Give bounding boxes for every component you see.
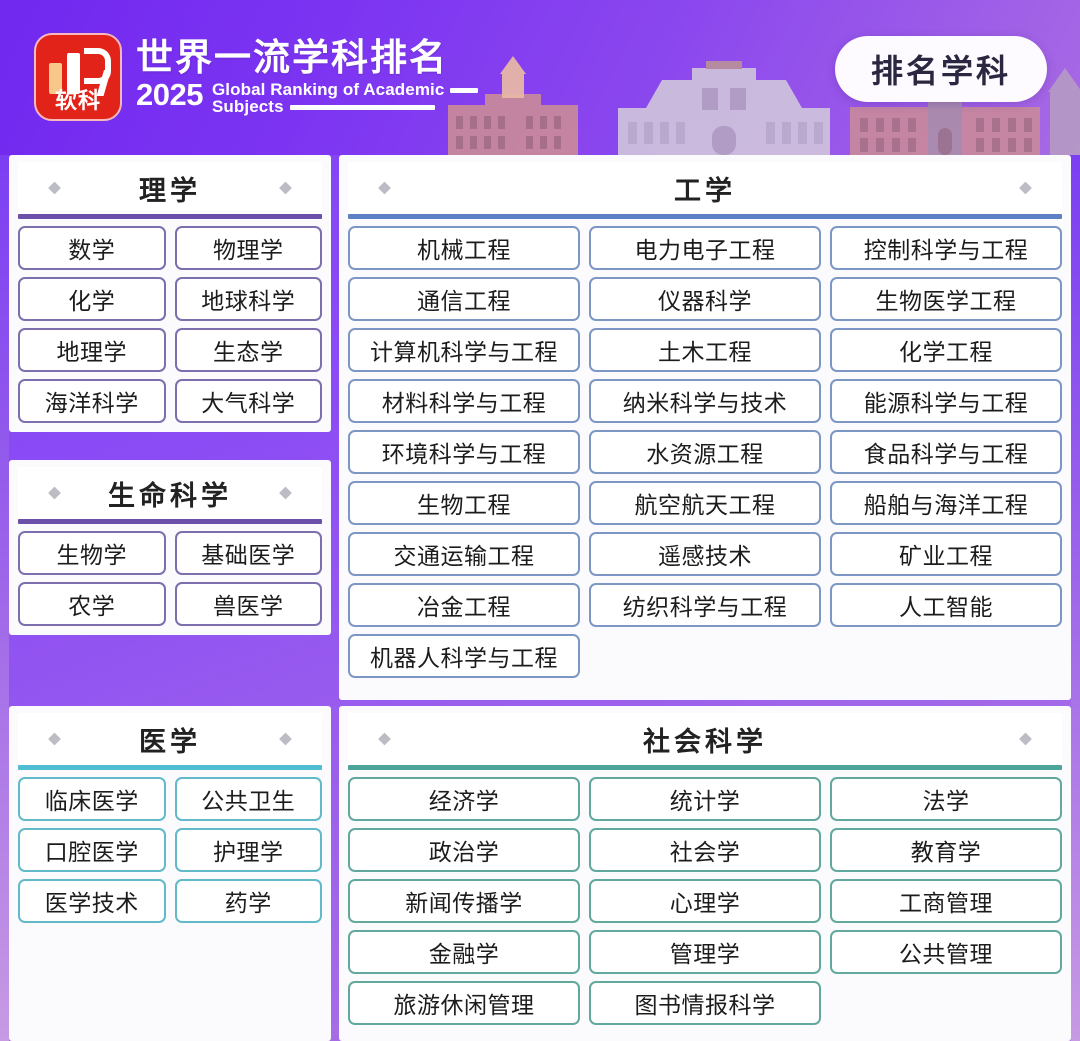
right-edge-strip (1071, 155, 1080, 1041)
subject-tile[interactable]: 航空航天工程 (589, 481, 821, 525)
subject-tile[interactable]: 口腔医学 (18, 828, 166, 872)
section-medicine-header: 医学 (18, 713, 322, 765)
brand-logo: 软科 世界一流学科排名 2025 Global Ranking of Acade… (34, 33, 478, 121)
subject-tile[interactable]: 食品科学与工程 (830, 430, 1062, 474)
section-engineering-tiles: 机械工程 电力电子工程 控制科学与工程 通信工程 仪器科学 生物医学工程 计算机… (348, 226, 1062, 678)
subject-tile[interactable]: 仪器科学 (589, 277, 821, 321)
subject-tile[interactable]: 计算机科学与工程 (348, 328, 580, 372)
section-science-header: 理学 (18, 162, 322, 214)
subject-tile[interactable]: 金融学 (348, 930, 580, 974)
diamond-bullet-icon (279, 487, 292, 500)
diamond-bullet-icon (1019, 182, 1032, 195)
subject-tile[interactable]: 水资源工程 (589, 430, 821, 474)
diamond-bullet-icon (48, 733, 61, 746)
section-engineering-header: 工学 (348, 162, 1062, 214)
subject-tile[interactable]: 化学 (18, 277, 166, 321)
logo-cn-text: 软科 (36, 90, 120, 112)
header-banner: 软科 世界一流学科排名 2025 Global Ranking of Acade… (0, 0, 1080, 155)
subject-tile[interactable]: 药学 (175, 879, 323, 923)
subject-tile[interactable]: 工商管理 (830, 879, 1062, 923)
section-medicine-title: 医学 (139, 720, 201, 759)
ranking-subjects-badge-label: 排名学科 (871, 46, 1011, 92)
section-social-science: 社会科学 经济学 统计学 法学 政治学 社会学 教育学 新闻传播学 心理学 工商… (339, 706, 1071, 1041)
subject-tile[interactable]: 图书情报科学 (589, 981, 821, 1025)
subject-tile[interactable]: 大气科学 (175, 379, 323, 423)
section-life-science-rule (18, 519, 322, 524)
diamond-bullet-icon (279, 182, 292, 195)
subject-tile[interactable]: 机器人科学与工程 (348, 634, 580, 678)
section-life-science-header: 生命科学 (18, 467, 322, 519)
subject-tile[interactable]: 兽医学 (175, 582, 323, 626)
subject-tile[interactable]: 物理学 (175, 226, 323, 270)
subject-tile[interactable]: 冶金工程 (348, 583, 580, 627)
subject-tile[interactable]: 数学 (18, 226, 166, 270)
subject-tile[interactable]: 能源科学与工程 (830, 379, 1062, 423)
subject-tile[interactable]: 生物学 (18, 531, 166, 575)
section-life-science: 生命科学 生物学 基础医学 农学 兽医学 (9, 460, 331, 635)
subject-tile[interactable]: 旅游休闲管理 (348, 981, 580, 1025)
subject-tile[interactable]: 经济学 (348, 777, 580, 821)
subject-tile[interactable]: 基础医学 (175, 531, 323, 575)
banner-year: 2025 (136, 79, 203, 110)
subject-tile[interactable]: 统计学 (589, 777, 821, 821)
section-medicine: 医学 临床医学 公共卫生 口腔医学 护理学 医学技术 药学 (9, 706, 331, 1041)
section-life-science-tiles: 生物学 基础医学 农学 兽医学 (18, 531, 322, 626)
left-edge-strip (0, 155, 9, 1041)
subject-tile[interactable]: 生态学 (175, 328, 323, 372)
section-science-tiles: 数学 物理学 化学 地球科学 地理学 生态学 海洋科学 大气科学 (18, 226, 322, 423)
diamond-bullet-icon (378, 733, 391, 746)
subject-tile[interactable]: 矿业工程 (830, 532, 1062, 576)
subject-tile[interactable]: 纺织科学与工程 (589, 583, 821, 627)
subject-tile[interactable]: 心理学 (589, 879, 821, 923)
diamond-bullet-icon (48, 487, 61, 500)
section-social-science-rule (348, 765, 1062, 770)
subject-tile[interactable]: 海洋科学 (18, 379, 166, 423)
subject-tile[interactable]: 机械工程 (348, 226, 580, 270)
section-social-science-header: 社会科学 (348, 713, 1062, 765)
subject-tile[interactable]: 临床医学 (18, 777, 166, 821)
diamond-bullet-icon (48, 182, 61, 195)
section-science-rule (18, 214, 322, 219)
subject-tile[interactable]: 遥感技术 (589, 532, 821, 576)
subject-tile[interactable]: 纳米科学与技术 (589, 379, 821, 423)
diamond-bullet-icon (378, 182, 391, 195)
subject-tile[interactable]: 人工智能 (830, 583, 1062, 627)
section-medicine-tiles: 临床医学 公共卫生 口腔医学 护理学 医学技术 药学 (18, 777, 322, 923)
section-social-science-title: 社会科学 (643, 720, 767, 759)
title-rule-b-icon (290, 105, 435, 110)
subject-tile[interactable]: 医学技术 (18, 879, 166, 923)
subject-tile[interactable]: 农学 (18, 582, 166, 626)
section-medicine-rule (18, 765, 322, 770)
subject-tile[interactable]: 新闻传播学 (348, 879, 580, 923)
subject-tile[interactable]: 生物医学工程 (830, 277, 1062, 321)
subject-tile[interactable]: 公共卫生 (175, 777, 323, 821)
section-engineering-rule (348, 214, 1062, 219)
banner-title-en-line1: Global Ranking of Academic (212, 80, 444, 99)
subject-tile[interactable]: 法学 (830, 777, 1062, 821)
section-life-science-title: 生命科学 (108, 474, 232, 513)
section-engineering-title: 工学 (674, 169, 736, 208)
diamond-bullet-icon (1019, 733, 1032, 746)
banner-title-en-line2: Subjects (212, 97, 284, 116)
subject-tile[interactable]: 通信工程 (348, 277, 580, 321)
ranking-subjects-badge[interactable]: 排名学科 (835, 36, 1047, 102)
subject-tile[interactable]: 交通运输工程 (348, 532, 580, 576)
subject-tile[interactable]: 教育学 (830, 828, 1062, 872)
subject-tile[interactable]: 公共管理 (830, 930, 1062, 974)
subject-tile[interactable]: 地理学 (18, 328, 166, 372)
subject-tile[interactable]: 化学工程 (830, 328, 1062, 372)
subject-tile[interactable]: 控制科学与工程 (830, 226, 1062, 270)
title-rule-a-icon (450, 88, 478, 93)
subject-tile[interactable]: 材料科学与工程 (348, 379, 580, 423)
subject-tile[interactable]: 地球科学 (175, 277, 323, 321)
subject-tile[interactable]: 环境科学与工程 (348, 430, 580, 474)
banner-title-cn: 世界一流学科排名 (136, 38, 478, 78)
diamond-bullet-icon (279, 733, 292, 746)
section-social-science-tiles: 经济学 统计学 法学 政治学 社会学 教育学 新闻传播学 心理学 工商管理 金融… (348, 777, 1062, 1025)
subject-tile[interactable]: 生物工程 (348, 481, 580, 525)
subject-tile[interactable]: 管理学 (589, 930, 821, 974)
section-engineering: 工学 机械工程 电力电子工程 控制科学与工程 通信工程 仪器科学 生物医学工程 … (339, 155, 1071, 700)
shanghairanking-logo-icon: 软科 (34, 33, 122, 121)
section-science-title: 理学 (139, 169, 201, 208)
subject-tile[interactable]: 社会学 (589, 828, 821, 872)
subject-tile[interactable]: 护理学 (175, 828, 323, 872)
section-science: 理学 数学 物理学 化学 地球科学 地理学 生态学 海洋科学 大气科学 (9, 155, 331, 432)
subject-board: 理学 数学 物理学 化学 地球科学 地理学 生态学 海洋科学 大气科学 (0, 155, 1080, 1041)
subject-tile[interactable]: 土木工程 (589, 328, 821, 372)
subject-tile[interactable]: 船舶与海洋工程 (830, 481, 1062, 525)
subject-tile[interactable]: 电力电子工程 (589, 226, 821, 270)
subject-tile[interactable]: 政治学 (348, 828, 580, 872)
left-column-top: 理学 数学 物理学 化学 地球科学 地理学 生态学 海洋科学 大气科学 (9, 155, 331, 700)
